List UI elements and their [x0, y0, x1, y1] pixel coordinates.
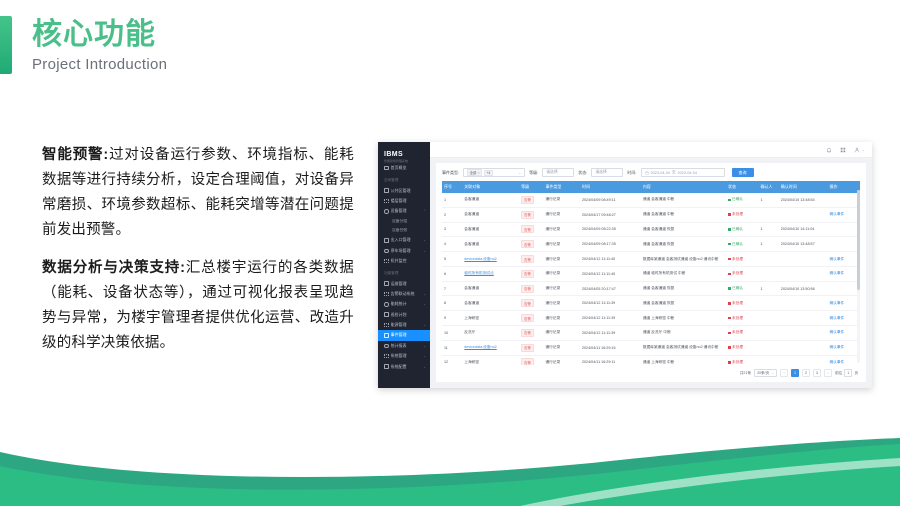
cell-confirmed-by: 1: [759, 222, 779, 237]
level-select[interactable]: 请选择: [542, 168, 574, 177]
table-row[interactable]: 3会客通道告警通行记录2024/04/09 08:22:35通道 会客通道 恢复…: [442, 222, 860, 237]
cell-action[interactable]: 确认事件: [827, 207, 860, 222]
pagination: 共21条 20条/页 ⌄ ‹ 123› 前往 1 页: [436, 365, 866, 382]
goto-unit: 页: [854, 371, 858, 376]
sidebar-item-1-1[interactable]: 楼层管理: [378, 196, 430, 206]
paragraph-lead: 智能预警:: [42, 147, 108, 163]
status-dot-icon: [728, 302, 731, 305]
time-label: 时间:: [627, 170, 636, 176]
cell-confirmed-by: 1: [759, 237, 779, 252]
main-area: ⌄ 事件类型: 全部 ✕ +4 ⌄ 等级:: [430, 142, 872, 388]
status-badge: 未处理: [728, 360, 743, 365]
cell-confirm-time: 2024/04/10 13:50:56: [779, 281, 828, 296]
cell-confirm-time: [779, 326, 828, 341]
top-bar: ⌄: [430, 142, 872, 158]
level-badge: 告警: [521, 255, 534, 263]
door-icon: [384, 238, 389, 243]
status-badge: 未处理: [728, 271, 743, 276]
cell-confirmed-by: [759, 355, 779, 365]
cell-time: 2024/04/12 11:11:40: [580, 266, 641, 281]
confirm-event-link[interactable]: 确认事件: [829, 316, 844, 320]
calendar-icon: [645, 171, 649, 175]
cell-object: 会客通道: [462, 281, 519, 296]
status-dot-icon: [728, 317, 731, 320]
cell-confirmed-by: 1: [759, 193, 779, 207]
cell-status: 未处理: [726, 296, 758, 311]
cell-status: 未处理: [726, 355, 758, 365]
chevron-icon[interactable]: ⌃: [423, 209, 426, 213]
status-dot-icon: [728, 258, 731, 261]
device-icon: [384, 209, 389, 214]
event-type-tag-label: 全部: [470, 170, 477, 175]
cell-time: 2024/04/09 08:17:35: [580, 237, 641, 252]
chevron-icon[interactable]: ⌄: [423, 354, 426, 358]
cell-level: 告警: [519, 326, 543, 341]
cell-content: 通道 上海研密 中断: [641, 355, 726, 365]
level-label: 等级:: [529, 170, 538, 176]
cell-object: 会客通道: [462, 237, 519, 252]
cell-confirmed-by: [759, 252, 779, 267]
search-button[interactable]: 查询: [732, 168, 754, 177]
sidebar-item-label: 公共区管理: [391, 188, 411, 194]
status-label: 已确认: [732, 197, 743, 202]
cell-status: 已确认: [726, 281, 758, 296]
chevron-icon[interactable]: ⌄: [423, 292, 426, 296]
energy-icon: [384, 323, 389, 328]
cell-status: 已确认: [726, 193, 758, 207]
cell-status: 未处理: [726, 340, 758, 355]
sidebar-menu: 首页概览空间管理公共区管理楼层管理设备管理⌃设备分组设备台账出入口管理⌄停车场管…: [378, 163, 430, 372]
chevron-icon[interactable]: ⌄: [423, 323, 426, 327]
cell-content: 通道 会客通道 中断: [641, 193, 726, 207]
cell-status: 已确认: [726, 237, 758, 252]
description-copy: 智能预警:过对设备运行参数、环境指标、能耗数据等进行持续分析，设定合理阈值，对设…: [42, 143, 354, 369]
cell-level: 告警: [519, 222, 543, 237]
cell-time: 2024/04/05 20:17:47: [580, 281, 641, 296]
cell-content: 通道 会客通道 恢复: [641, 281, 726, 296]
content-panel: 事件类型: 全部 ✕ +4 ⌄ 等级: 请选择 状态:: [436, 163, 866, 382]
level-badge: 告警: [521, 299, 534, 307]
status-dot-icon: [728, 228, 731, 231]
cell-object: 会客通道: [462, 193, 519, 207]
paragraph-data-analysis: 数据分析与决策支持:汇总楼宇运行的各类数据（能耗、设备状态等），通过可视化报表呈…: [42, 256, 354, 356]
cell-index: 9: [442, 311, 462, 326]
column-header: 时间: [580, 181, 641, 193]
sidebar-item-2-2[interactable]: 能耗统计⌄: [378, 299, 430, 309]
cell-action[interactable]: 确认事件: [827, 266, 860, 281]
sidebar-item-1-2[interactable]: 设备管理⌃: [378, 206, 430, 216]
user-avatar-icon[interactable]: [854, 147, 860, 153]
level-badge: 告警: [521, 211, 534, 219]
app-screenshot: IBMS 智能建筑管理系统 首页概览空间管理公共区管理楼层管理设备管理⌃设备分组…: [378, 142, 872, 388]
cell-type: 通行记录: [543, 281, 580, 296]
sidebar-item-label: 告警联动系统: [391, 291, 415, 297]
chevron-icon[interactable]: ⌄: [423, 249, 426, 253]
cell-confirmed-by: [759, 311, 779, 326]
report-icon: [384, 344, 389, 349]
grid-icon[interactable]: [840, 147, 846, 153]
status-badge: 已确认: [728, 242, 743, 247]
page-button-2[interactable]: 2: [802, 369, 810, 377]
monitor-icon: [384, 259, 389, 264]
level-badge: 告警: [521, 329, 534, 337]
date-end[interactable]: 2023-04-04: [678, 171, 697, 175]
goto-label: 前往: [835, 371, 842, 376]
gear-icon: [384, 354, 389, 359]
status-label: 已确认: [732, 227, 743, 232]
sidebar-item-2-4[interactable]: 能源管理⌄: [378, 320, 430, 330]
close-icon[interactable]: ✕: [477, 171, 480, 175]
cell-level: 告警: [519, 193, 543, 207]
confirm-event-link[interactable]: 确认事件: [829, 345, 844, 349]
cell-status: 未处理: [726, 207, 758, 222]
cell-level: 告警: [519, 311, 543, 326]
cell-action[interactable]: 确认事件: [827, 340, 860, 355]
sidebar-item-label: 系统管理: [391, 353, 407, 359]
cell-confirm-time: 2024/04/10 14:11:04: [779, 222, 828, 237]
status-badge: 已确认: [728, 197, 743, 202]
sidebar-item-label: 运维管理: [391, 281, 407, 287]
chevron-down-icon[interactable]: ⌄: [862, 148, 865, 152]
cell-index: 12: [442, 355, 462, 365]
sidebar-item-label: 能耗统计: [391, 301, 407, 307]
cell-level: 告警: [519, 281, 543, 296]
event-type-tag[interactable]: 全部 ✕: [467, 169, 482, 176]
sidebar-item-1-6[interactable]: 停车场管理⌄: [378, 246, 430, 256]
cell-content: 通道 会客通道 恢复: [641, 237, 726, 252]
table-row[interactable]: 4会客通道告警通行记录2024/04/09 08:17:35通道 会客通道 恢复…: [442, 237, 860, 252]
chevron-down-icon[interactable]: ⌄: [518, 171, 521, 175]
cell-confirm-time: [779, 340, 828, 355]
cell-confirm-time: [779, 252, 828, 267]
next-page-button[interactable]: ›: [824, 369, 832, 377]
column-header: 确认时间: [779, 181, 828, 193]
sidebar-item-2-7[interactable]: 系统管理⌄: [378, 351, 430, 361]
page-button-1[interactable]: 1: [791, 369, 799, 377]
sidebar-item-2-1[interactable]: 告警联动系统⌄: [378, 289, 430, 299]
table-row[interactable]: 8会客通道告警通行记录2024/04/12 11:11:39通道 会客通道 恢复…: [442, 296, 860, 311]
cell-index: 2: [442, 207, 462, 222]
sidebar-group-label: 空间管理: [378, 173, 430, 185]
cell-time: 2024/04/12 11:11:39: [580, 296, 641, 311]
event-type-label: 事件类型:: [442, 170, 459, 176]
sidebar-item-label: 能源管理: [391, 322, 407, 328]
cell-type: 通行记录: [543, 296, 580, 311]
cell-status: 未处理: [726, 326, 758, 341]
status-label: 未处理: [732, 330, 743, 335]
chart-icon: [384, 302, 389, 307]
event-icon: [384, 333, 389, 338]
cell-type: 通行记录: [543, 193, 580, 207]
cell-object: devicedata.设备no2: [462, 340, 519, 355]
table-container: 序号关联对象等级事件类型时间内容状态确认人确认时间操作 1会客通道告警通行记录2…: [436, 181, 866, 365]
cell-object: devicedata.设备no2: [462, 252, 519, 267]
cell-action[interactable]: 确认事件: [827, 355, 860, 365]
level-badge: 告警: [521, 314, 534, 322]
cell-action[interactable]: 确认事件: [827, 252, 860, 267]
status-dot-icon: [728, 243, 731, 246]
status-dot-icon: [728, 346, 731, 349]
cell-object: 反洗厅: [462, 326, 519, 341]
status-select[interactable]: 请选择: [591, 168, 623, 177]
cell-type: 通行记录: [543, 252, 580, 267]
table-scrollbar[interactable]: [857, 190, 860, 363]
slide-header: 核心功能 Project Introduction: [0, 16, 167, 74]
accent-bar: [0, 16, 12, 74]
cell-confirmed-by: [759, 207, 779, 222]
goto-input[interactable]: 1: [844, 369, 852, 377]
sidebar-item-label: 系统配置: [391, 364, 407, 370]
column-header: 等级: [519, 181, 543, 193]
sidebar-item-label: 设备管理: [391, 208, 407, 214]
page-size-select[interactable]: 20条/页 ⌄: [754, 369, 777, 377]
sidebar-item-1-0[interactable]: 公共区管理: [378, 185, 430, 195]
cell-content: 通道 会客通道 恢复: [641, 296, 726, 311]
parking-icon: [384, 249, 389, 254]
table-row[interactable]: 6临时所有机测试点告警通行记录2024/04/12 11:11:40通道 临时所…: [442, 266, 860, 281]
cell-confirm-time: [779, 207, 828, 222]
sidebar-item-2-3[interactable]: 巡检计划: [378, 310, 430, 320]
status-label: 未处理: [732, 212, 743, 217]
object-link[interactable]: devicedata.设备no2: [464, 257, 496, 261]
confirm-event-link[interactable]: 确认事件: [829, 212, 844, 216]
cell-confirmed-by: [759, 340, 779, 355]
brand-logo: IBMS: [378, 148, 430, 158]
status-badge: 已确认: [728, 286, 743, 291]
confirm-event-link[interactable]: 确认事件: [829, 271, 844, 275]
cell-type: 通行记录: [543, 207, 580, 222]
cell-confirmed-by: [759, 326, 779, 341]
event-type-overflow-tag: +4: [484, 170, 493, 176]
status-dot-icon: [728, 332, 731, 335]
cell-confirmed-by: [759, 266, 779, 281]
status-dot-icon: [728, 361, 731, 364]
cell-level: 告警: [519, 355, 543, 365]
sidebar-item-0-0[interactable]: 首页概览: [378, 163, 430, 173]
cell-type: 通行记录: [543, 340, 580, 355]
confirm-event-link[interactable]: 确认事件: [829, 257, 844, 261]
column-header: 事件类型: [543, 181, 580, 193]
filter-bar: 事件类型: 全部 ✕ +4 ⌄ 等级: 请选择 状态:: [436, 163, 866, 181]
chevron-icon[interactable]: ⌄: [423, 238, 426, 242]
sidebar-item-label: 楼层管理: [391, 198, 407, 204]
cell-status: 已确认: [726, 222, 758, 237]
dashboard-icon: [384, 166, 389, 171]
cell-content: 数据库某通道 会客测试通道 设备no2 通讯中断: [641, 252, 726, 267]
level-badge: 告警: [521, 240, 534, 248]
chevron-down-icon[interactable]: ⌄: [771, 371, 774, 375]
chevron-icon[interactable]: ⌄: [423, 344, 426, 348]
status-label: 未处理: [732, 316, 743, 321]
chevron-icon[interactable]: ⌄: [423, 365, 426, 369]
cell-level: 告警: [519, 237, 543, 252]
header-text-group: 核心功能 Project Introduction: [32, 16, 167, 74]
cell-object: 上海研密: [462, 311, 519, 326]
cell-content: 通道 会客通道 恢复: [641, 222, 726, 237]
cell-content: 通道 上海研密 中断: [641, 311, 726, 326]
sidebar-item-label: 设备台账: [392, 228, 407, 233]
table-row[interactable]: 12上海研密告警通行记录2024/04/11 16:29:11通道 上海研密 中…: [442, 355, 860, 365]
cell-type: 通行记录: [543, 222, 580, 237]
cell-object: 上海研密: [462, 355, 519, 365]
sidebar-item-label: 机井监控: [391, 258, 407, 264]
status-label: 未处理: [732, 257, 743, 262]
cell-action[interactable]: 确认事件: [827, 296, 860, 311]
cell-confirm-time: [779, 311, 828, 326]
check-icon: [384, 312, 389, 317]
level-badge: 告警: [521, 285, 534, 293]
table-header-row: 序号关联对象等级事件类型时间内容状态确认人确认时间操作: [442, 181, 860, 193]
cell-action[interactable]: 确认事件: [827, 326, 860, 341]
cell-confirm-time: 2024/04/10 13:48:54: [779, 193, 828, 207]
cell-time: 2024/04/12 11:11:39: [580, 326, 641, 341]
status-badge: 未处理: [728, 330, 743, 335]
cell-time: 2024/04/09 08:49:11: [580, 193, 641, 207]
sidebar-item-label: 首页概览: [391, 165, 407, 171]
cell-confirm-time: [779, 266, 828, 281]
column-header: 状态: [726, 181, 758, 193]
confirm-event-link[interactable]: 确认事件: [829, 301, 844, 305]
table-row[interactable]: 11devicedata.设备no2告警通行记录2024/04/11 16:29…: [442, 340, 860, 355]
sidebar-item-2-5[interactable]: 事件管理: [378, 330, 430, 340]
table-row[interactable]: 2会客通道告警通行记录2024/04/17 09:48:27通道 会客通道 中断…: [442, 207, 860, 222]
page-title: 核心功能: [32, 16, 167, 54]
events-table: 序号关联对象等级事件类型时间内容状态确认人确认时间操作 1会客通道告警通行记录2…: [442, 181, 860, 365]
status-badge: 未处理: [728, 316, 743, 321]
level-badge: 告警: [521, 358, 534, 365]
cell-time: 2024/04/12 11:11:39: [580, 311, 641, 326]
column-header: 序号: [442, 181, 462, 193]
cell-confirm-time: 2024/04/10 13:48:57: [779, 237, 828, 252]
sidebar: IBMS 智能建筑管理系统 首页概览空间管理公共区管理楼层管理设备管理⌃设备分组…: [378, 142, 430, 388]
paragraph-smart-alert: 智能预警:过对设备运行参数、环境指标、能耗数据等进行持续分析，设定合理阈值，对设…: [42, 143, 354, 243]
status-badge: 未处理: [728, 257, 743, 262]
object-link[interactable]: 临时所有机测试点: [464, 271, 494, 275]
sidebar-item-2-6[interactable]: 统计报表⌄: [378, 341, 430, 351]
cell-level: 告警: [519, 207, 543, 222]
cell-status: 未处理: [726, 252, 758, 267]
chevron-icon[interactable]: ⌄: [423, 302, 426, 306]
cell-index: 1: [442, 193, 462, 207]
bell-icon[interactable]: [826, 147, 832, 153]
config-icon: [384, 364, 389, 369]
object-link[interactable]: devicedata.设备no2: [464, 345, 496, 349]
cell-object: 会客通道: [462, 222, 519, 237]
cell-object: 会客通道: [462, 207, 519, 222]
cell-status: 未处理: [726, 266, 758, 281]
table-row[interactable]: 5devicedata.设备no2告警通行记录2024/04/12 11:11:…: [442, 252, 860, 267]
date-start[interactable]: 2023-04-04: [651, 171, 670, 175]
column-header: 内容: [641, 181, 726, 193]
sidebar-item-1-7[interactable]: 机井监控: [378, 256, 430, 266]
cell-action: [827, 237, 860, 252]
status-badge: 未处理: [728, 301, 743, 306]
status-label: 未处理: [732, 301, 743, 306]
table-body: 1会客通道告警通行记录2024/04/09 08:49:11通道 会客通道 中断…: [442, 193, 860, 365]
cell-confirm-time: [779, 355, 828, 365]
layers-icon: [384, 199, 389, 204]
cell-type: 通行记录: [543, 355, 580, 365]
sidebar-group-label: 功能管理: [378, 266, 430, 278]
table-row[interactable]: 9上海研密告警通行记录2024/04/12 11:11:39通道 上海研密 中断…: [442, 311, 860, 326]
column-header: 操作: [827, 181, 860, 193]
status-dot-icon: [728, 213, 731, 216]
confirm-event-link[interactable]: 确认事件: [829, 330, 844, 334]
sidebar-item-1-3[interactable]: 设备分组: [378, 217, 430, 226]
cell-index: 8: [442, 296, 462, 311]
sidebar-item-1-5[interactable]: 出入口管理⌄: [378, 235, 430, 245]
sidebar-item-label: 出入口管理: [391, 237, 411, 243]
status-badge: 未处理: [728, 345, 743, 350]
page-size-value: 20条/页: [757, 371, 769, 376]
page-button-3[interactable]: 3: [813, 369, 821, 377]
cell-confirmed-by: [759, 296, 779, 311]
cell-type: 通行记录: [543, 266, 580, 281]
cell-action: [827, 193, 860, 207]
sidebar-item-1-4[interactable]: 设备台账: [378, 226, 430, 235]
cell-time: 2024/04/17 09:48:27: [580, 207, 641, 222]
bottom-wave-decoration: [0, 436, 900, 506]
date-range-picker[interactable]: 2023-04-04 至 2023-04-04: [641, 168, 725, 177]
goto-page[interactable]: 前往 1 页: [835, 369, 858, 377]
table-row[interactable]: 7会客通道告警通行记录2024/04/05 20:17:47通道 会客通道 恢复…: [442, 281, 860, 296]
cell-type: 通行记录: [543, 237, 580, 252]
cell-index: 3: [442, 222, 462, 237]
sidebar-item-label: 巡检计划: [391, 312, 407, 318]
status-dot-icon: [728, 199, 731, 202]
status-dot-icon: [728, 273, 731, 276]
cell-content: 数据库某通道 会客测试通道 设备no2 通讯中断: [641, 340, 726, 355]
status-dot-icon: [728, 287, 731, 290]
cell-time: 2024/04/12 11:11:40: [580, 252, 641, 267]
event-type-select[interactable]: 全部 ✕ +4 ⌄: [463, 168, 525, 177]
cell-content: 通道 反洗厅 中断: [641, 326, 726, 341]
table-row[interactable]: 10反洗厅告警通行记录2024/04/12 11:11:39通道 反洗厅 中断未…: [442, 326, 860, 341]
level-badge: 告警: [521, 196, 534, 204]
alert-icon: [384, 292, 389, 297]
confirm-event-link[interactable]: 确认事件: [829, 360, 844, 364]
level-badge: 告警: [521, 225, 534, 233]
status-label: 已确认: [732, 286, 743, 291]
status-label: 未处理: [732, 271, 743, 276]
prev-page-button[interactable]: ‹: [780, 369, 788, 377]
user-menu[interactable]: ⌄: [854, 147, 865, 153]
table-row[interactable]: 1会客通道告警通行记录2024/04/09 08:49:11通道 会客通道 中断…: [442, 193, 860, 207]
sidebar-item-2-0[interactable]: 运维管理: [378, 278, 430, 288]
level-badge: 告警: [521, 344, 534, 352]
status-label: 未处理: [732, 360, 743, 365]
status-badge: 未处理: [728, 212, 743, 217]
status-value: 请选择: [595, 170, 606, 175]
date-range-separator: 至: [672, 170, 676, 175]
cell-index: 7: [442, 281, 462, 296]
cell-action[interactable]: 确认事件: [827, 311, 860, 326]
sidebar-item-2-8[interactable]: 系统配置⌄: [378, 361, 430, 371]
sidebar-item-label: 设备分组: [392, 219, 407, 224]
cell-index: 4: [442, 237, 462, 252]
cell-level: 告警: [519, 340, 543, 355]
cell-content: 通道 会客通道 中断: [641, 207, 726, 222]
column-header: 确认人: [759, 181, 779, 193]
page-number-list: 123›: [791, 369, 832, 377]
cell-time: 2024/04/11 16:29:16: [580, 340, 641, 355]
status-label: 未处理: [732, 345, 743, 350]
cell-index: 10: [442, 326, 462, 341]
level-badge: 告警: [521, 270, 534, 278]
sidebar-item-label: 统计报表: [391, 343, 407, 349]
cell-type: 通行记录: [543, 311, 580, 326]
status-label: 已确认: [732, 242, 743, 247]
